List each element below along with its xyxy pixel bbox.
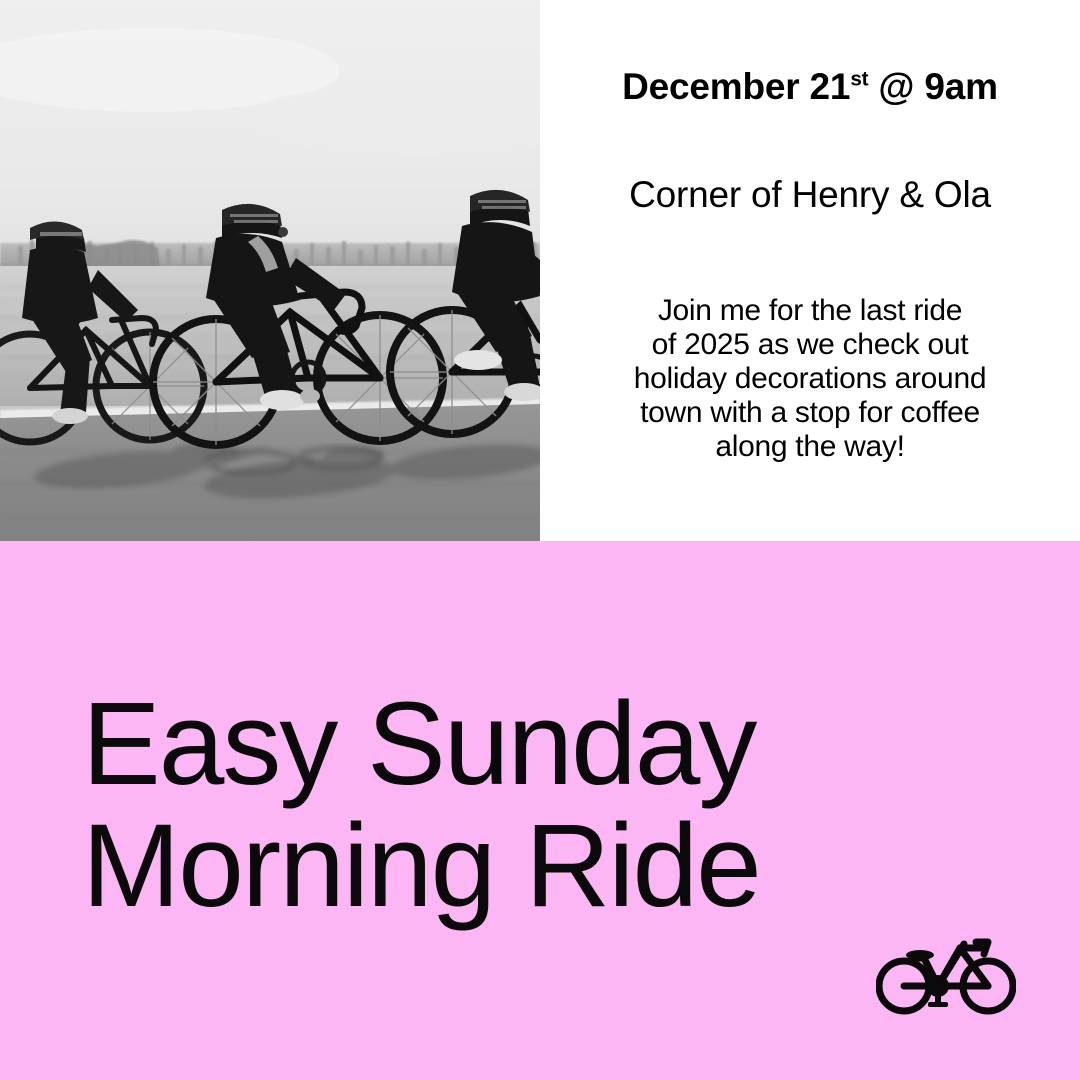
date-ordinal-suffix: st	[850, 68, 868, 91]
description-line: holiday decorations around	[570, 362, 1050, 396]
top-section: December 21st @ 9am Corner of Henry & Ol…	[0, 0, 1080, 541]
event-info-panel: December 21st @ 9am Corner of Henry & Ol…	[540, 0, 1080, 541]
event-time: @ 9am	[868, 66, 998, 107]
event-location: Corner of Henry & Ola	[540, 174, 1080, 216]
description-line: along the way!	[570, 430, 1050, 464]
headline-line: Easy Sunday	[82, 683, 982, 805]
event-date-prefix: December 21	[622, 66, 850, 107]
headline-line: Morning Ride	[82, 805, 982, 927]
bicycle-icon	[876, 924, 1016, 1016]
cyclists-photo	[0, 0, 540, 541]
description-line: of 2025 as we check out	[570, 328, 1050, 362]
description-line: Join me for the last ride	[570, 294, 1050, 328]
poster-canvas: December 21st @ 9am Corner of Henry & Ol…	[0, 0, 1080, 1080]
description-line: town with a stop for coffee	[570, 396, 1050, 430]
poster-headline: Easy Sunday Morning Ride	[82, 683, 982, 927]
event-description: Join me for the last ride of 2025 as we …	[570, 294, 1050, 464]
event-date-time: December 21st @ 9am	[540, 66, 1080, 108]
